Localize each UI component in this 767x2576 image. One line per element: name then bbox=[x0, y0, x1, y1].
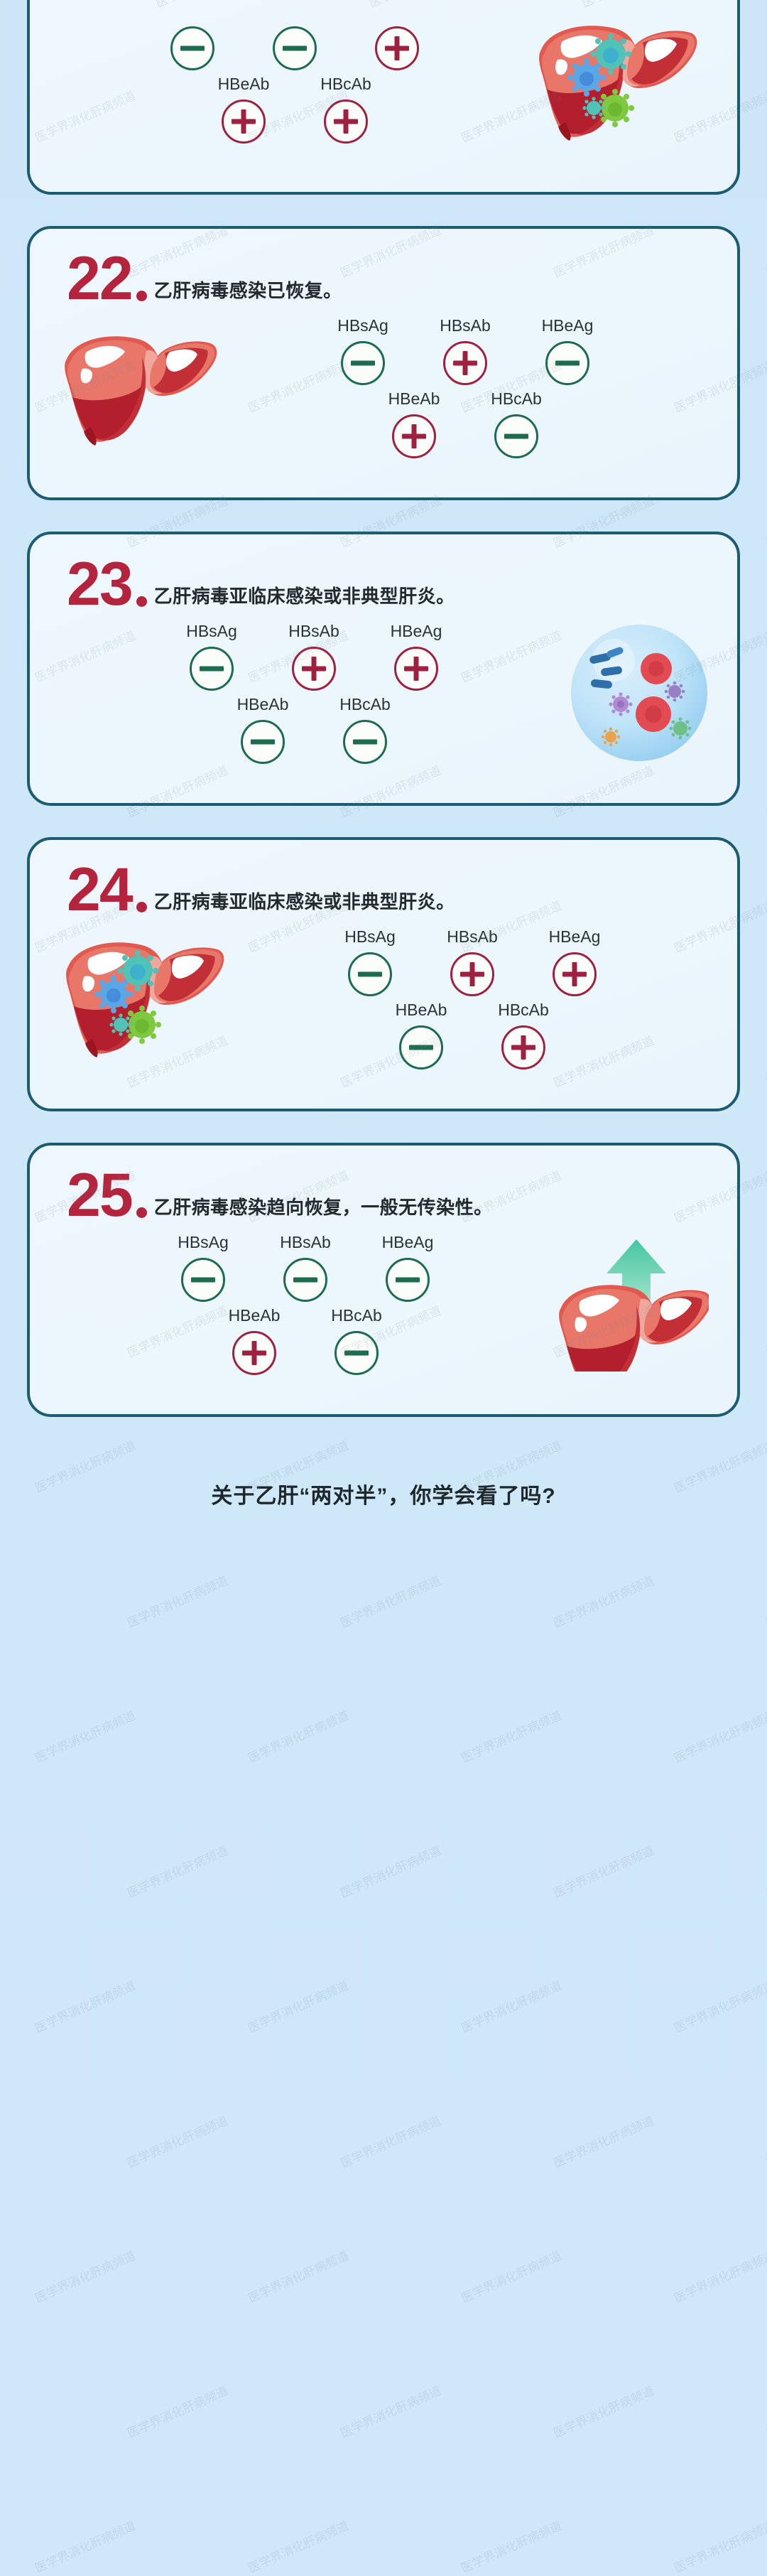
marker-label: HBsAb bbox=[447, 927, 498, 947]
positive-icon bbox=[232, 1331, 276, 1375]
marker-HBeAg: HBeAg bbox=[378, 622, 455, 691]
marker-row: HBeAbHBcAb bbox=[383, 1001, 562, 1069]
marker-row: HBeAbHBcAb bbox=[376, 389, 555, 458]
card-body: HBsAgHBsAbHBeAgHBeAbHBcAb bbox=[30, 611, 737, 803]
card-number-dot bbox=[136, 291, 147, 301]
marker-HBeAb: HBeAb bbox=[216, 1306, 293, 1375]
card-body: HBsAgHBsAbHBeAgHBeAbHBcAb bbox=[30, 306, 737, 497]
negative-icon bbox=[494, 414, 538, 458]
marker-HBeAb: HBeAb bbox=[383, 1001, 459, 1069]
positive-icon bbox=[443, 341, 487, 385]
marker-grid: HBsAgHBsAbHBeAgHBeAbHBcAb bbox=[236, 927, 709, 1069]
marker-label: HBcAb bbox=[339, 695, 391, 714]
negative-icon bbox=[241, 720, 285, 764]
marker-row bbox=[154, 21, 435, 70]
illustration bbox=[553, 1236, 709, 1371]
negative-icon bbox=[343, 720, 387, 764]
marker-HBsAb: HBsAb bbox=[267, 1233, 344, 1302]
card-number: 23 bbox=[67, 559, 147, 611]
negative-icon bbox=[190, 647, 234, 691]
infected-liver-illustration bbox=[58, 932, 236, 1065]
marker-unlabeled bbox=[154, 21, 231, 70]
card-24: 24乙肝病毒亚临床感染或非典型肝炎。 bbox=[27, 837, 740, 1111]
marker-label: HBsAg bbox=[178, 1233, 229, 1252]
negative-icon bbox=[334, 1331, 379, 1375]
marker-label: HBeAb bbox=[237, 695, 289, 714]
marker-label: HBsAg bbox=[186, 622, 237, 641]
marker-HBcAb: HBcAb bbox=[318, 1306, 395, 1375]
marker-unlabeled bbox=[359, 21, 435, 70]
marker-label: HBeAg bbox=[391, 622, 442, 641]
card-body: HBsAgHBsAbHBeAgHBeAbHBcAb bbox=[30, 1222, 737, 1414]
marker-label: HBsAb bbox=[440, 316, 491, 335]
card-header: 23乙肝病毒亚临床感染或非典型肝炎。 bbox=[30, 534, 737, 611]
marker-HBeAb: HBeAb bbox=[224, 695, 301, 764]
infographic-content: HBeAbHBcAb22乙肝病毒感染已恢复。 HBsAgHBsAbHBeAgHB… bbox=[0, 0, 767, 1509]
marker-unlabeled bbox=[256, 21, 333, 70]
card-23: 23乙肝病毒亚临床感染或非典型肝炎。 bbox=[27, 532, 740, 806]
card-number: 24 bbox=[67, 864, 147, 917]
positive-icon bbox=[450, 952, 494, 996]
card-number-dot bbox=[136, 902, 147, 912]
illustration bbox=[570, 623, 709, 762]
negative-icon bbox=[181, 1258, 225, 1302]
card-number: 22 bbox=[67, 253, 147, 306]
marker-HBcAb: HBcAb bbox=[327, 695, 403, 764]
marker-label: HBeAb bbox=[218, 75, 270, 94]
liver-with-up-arrow-illustration bbox=[553, 1236, 709, 1371]
negative-icon bbox=[283, 1258, 327, 1302]
negative-icon bbox=[545, 341, 589, 385]
card-header: 24乙肝病毒亚临床感染或非典型肝炎。 bbox=[30, 840, 737, 917]
negative-icon bbox=[399, 1025, 443, 1069]
marker-HBsAb: HBsAb bbox=[276, 622, 352, 691]
marker-label: HBeAg bbox=[542, 316, 594, 335]
card-title: 乙肝病毒感染趋向恢复，一般无传染性。 bbox=[154, 1197, 493, 1222]
marker-label: HBsAg bbox=[344, 927, 396, 947]
card-title: 乙肝病毒亚临床感染或非典型肝炎。 bbox=[154, 586, 455, 611]
negative-icon bbox=[170, 26, 214, 70]
card-number-text: 22 bbox=[67, 253, 132, 306]
card-number-dot bbox=[136, 1207, 147, 1218]
marker-row: HBeAbHBcAb bbox=[224, 695, 403, 764]
positive-icon bbox=[324, 99, 368, 144]
card-25: 25乙肝病毒感染趋向恢复，一般无传染性。 HBsAgHBsAbHBeAgHBeA bbox=[27, 1143, 740, 1417]
card-number-text: 25 bbox=[67, 1170, 132, 1222]
marker-HBsAg: HBsAg bbox=[165, 1233, 241, 1302]
marker-label: HBcAb bbox=[331, 1306, 382, 1325]
card-title: 乙肝病毒感染已恢复。 bbox=[154, 281, 342, 306]
negative-icon bbox=[273, 26, 317, 70]
blood-sample-circle-illustration bbox=[570, 623, 709, 762]
healthy-liver-illustration bbox=[58, 328, 222, 447]
marker-label: HBsAb bbox=[280, 1233, 331, 1252]
marker-HBcAb: HBcAb bbox=[308, 75, 384, 144]
card-22: 22乙肝病毒感染已恢复。 HBsAgHBsAbHBeAgHBeAbHBcAb bbox=[27, 226, 740, 500]
marker-label: HBcAb bbox=[491, 389, 542, 409]
card-number: 25 bbox=[67, 1170, 147, 1222]
marker-HBsAb: HBsAb bbox=[434, 927, 511, 996]
marker-label: HBeAg bbox=[382, 1233, 434, 1252]
positive-icon bbox=[292, 647, 336, 691]
marker-label: HBsAg bbox=[337, 316, 388, 335]
positive-icon bbox=[375, 26, 419, 70]
marker-HBsAb: HBsAb bbox=[427, 316, 504, 385]
marker-HBeAb: HBeAb bbox=[376, 389, 452, 458]
marker-HBsAg: HBsAg bbox=[332, 927, 408, 996]
marker-row: HBsAgHBsAbHBeAg bbox=[165, 1233, 446, 1302]
marker-HBeAg: HBeAg bbox=[529, 316, 606, 385]
card-header: 25乙肝病毒感染趋向恢复，一般无传染性。 bbox=[30, 1146, 737, 1222]
marker-row: HBsAgHBsAbHBeAg bbox=[173, 622, 455, 691]
positive-icon bbox=[394, 647, 438, 691]
marker-grid: HBsAgHBsAbHBeAgHBeAbHBcAb bbox=[58, 1233, 553, 1375]
footer-question: 关于乙肝“两对半”，你学会看了吗? bbox=[27, 1448, 740, 1509]
illustration bbox=[58, 328, 222, 447]
card-body: HBsAgHBsAbHBeAgHBeAbHBcAb bbox=[30, 917, 737, 1109]
card-header: 22乙肝病毒感染已恢复。 bbox=[30, 229, 737, 306]
positive-icon bbox=[501, 1025, 545, 1069]
marker-HBsAg: HBsAg bbox=[173, 622, 250, 691]
marker-row: HBsAgHBsAbHBeAg bbox=[325, 316, 606, 385]
marker-HBeAb: HBeAb bbox=[205, 75, 282, 144]
illustration bbox=[531, 16, 709, 148]
card-title: 乙肝病毒亚临床感染或非典型肝炎。 bbox=[154, 892, 455, 917]
card-number-text: 24 bbox=[67, 864, 132, 917]
marker-HBcAb: HBcAb bbox=[485, 1001, 562, 1069]
card-body: HBeAbHBcAb bbox=[30, 0, 737, 192]
negative-icon bbox=[341, 341, 385, 385]
marker-row: HBsAgHBsAbHBeAg bbox=[332, 927, 613, 996]
positive-icon bbox=[553, 952, 597, 996]
infected-liver-illustration bbox=[531, 16, 709, 148]
marker-grid: HBsAgHBsAbHBeAgHBeAbHBcAb bbox=[58, 622, 570, 764]
marker-HBeAg: HBeAg bbox=[536, 927, 613, 996]
positive-icon bbox=[392, 414, 436, 458]
positive-icon bbox=[222, 99, 266, 144]
marker-HBcAb: HBcAb bbox=[478, 389, 555, 458]
card-21: HBeAbHBcAb bbox=[27, 0, 740, 195]
card-number-text: 23 bbox=[67, 559, 132, 611]
marker-label: HBeAb bbox=[396, 1001, 447, 1020]
marker-label: HBeAb bbox=[229, 1306, 281, 1325]
marker-label: HBeAg bbox=[549, 927, 601, 947]
card-list: HBeAbHBcAb22乙肝病毒感染已恢复。 HBsAgHBsAbHBeAgHB… bbox=[27, 0, 740, 1417]
negative-icon bbox=[386, 1258, 430, 1302]
negative-icon bbox=[348, 952, 392, 996]
marker-label: HBcAb bbox=[498, 1001, 549, 1020]
marker-grid: HBsAgHBsAbHBeAgHBeAbHBcAb bbox=[222, 316, 709, 458]
marker-HBsAg: HBsAg bbox=[325, 316, 401, 385]
liver-shape bbox=[559, 1285, 709, 1371]
illustration bbox=[58, 932, 236, 1065]
marker-row: HBeAbHBcAb bbox=[205, 75, 384, 144]
marker-label: HBsAb bbox=[288, 622, 339, 641]
card-number-dot bbox=[136, 596, 147, 607]
marker-label: HBeAb bbox=[388, 389, 440, 409]
marker-label: HBcAb bbox=[320, 75, 371, 94]
marker-row: HBeAbHBcAb bbox=[216, 1306, 395, 1375]
marker-HBeAg: HBeAg bbox=[369, 1233, 446, 1302]
marker-grid: HBeAbHBcAb bbox=[58, 21, 531, 144]
